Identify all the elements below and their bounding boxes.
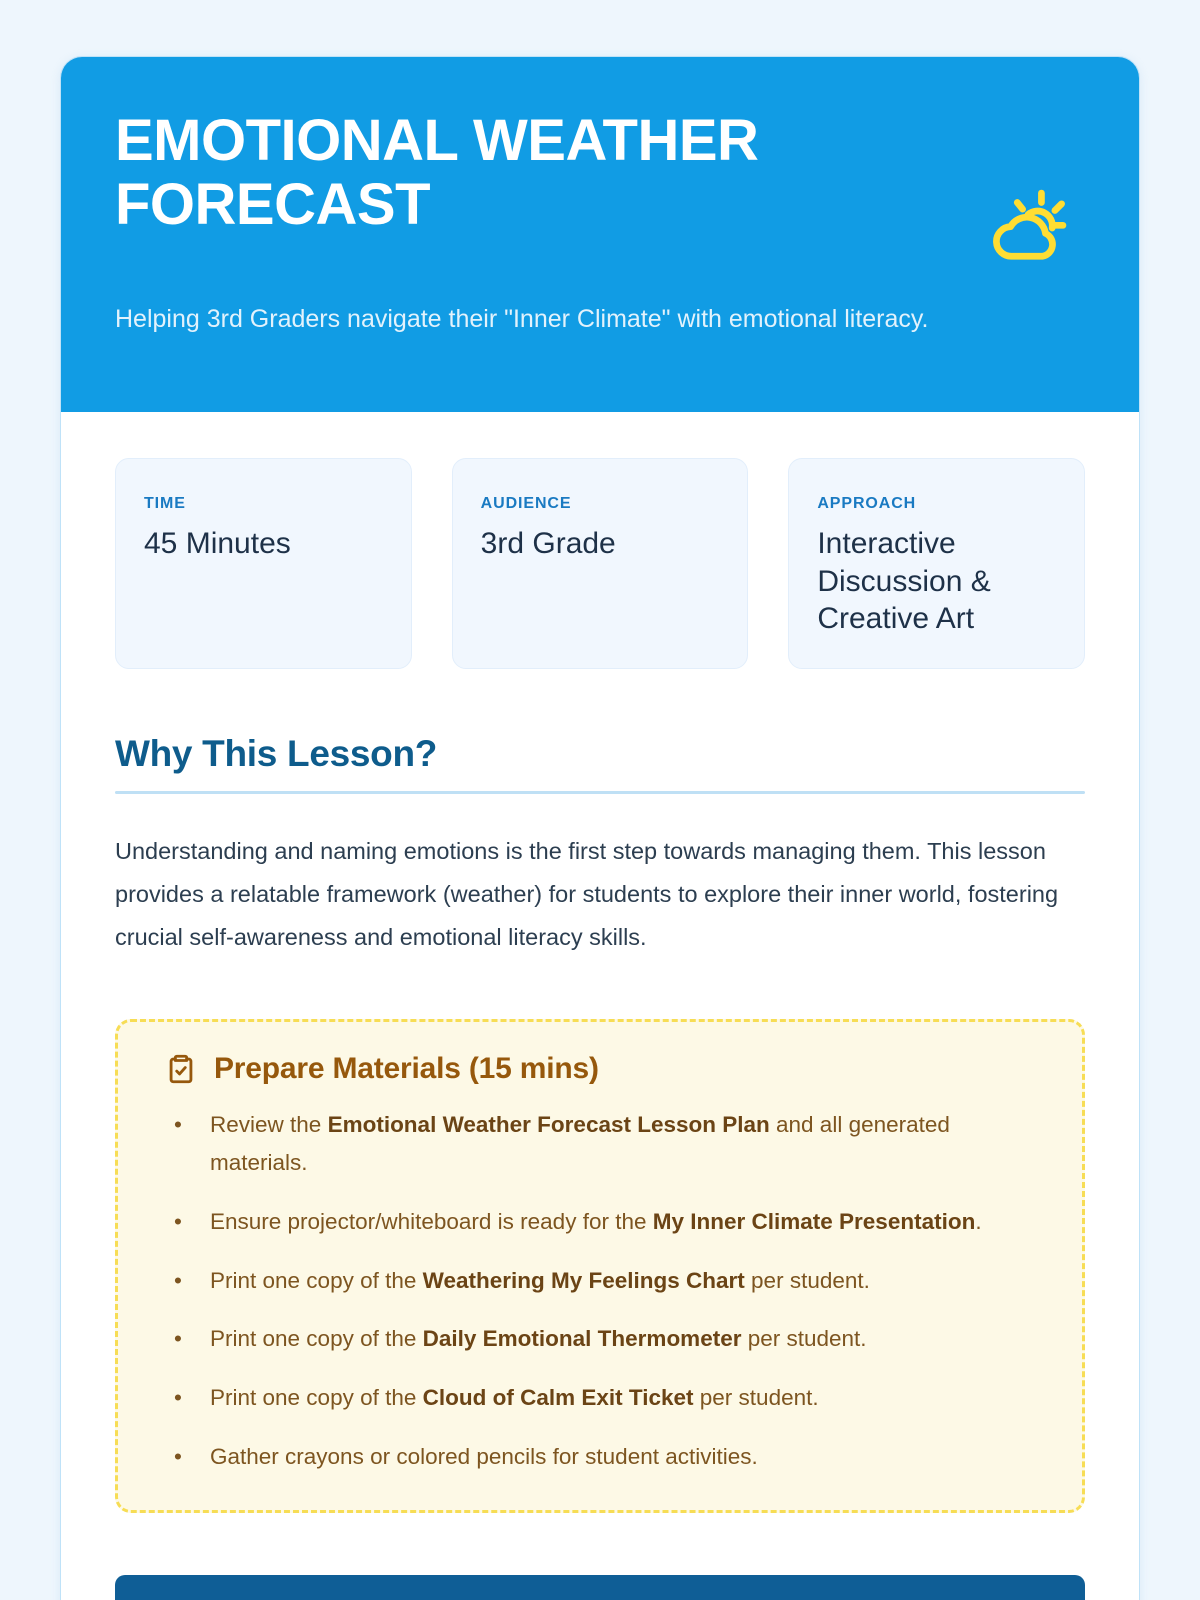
page-subtitle: Helping 3rd Graders navigate their "Inne… xyxy=(115,299,1005,340)
section-heading-why: Why This Lesson? xyxy=(115,733,1085,791)
list-item-strong: Weathering My Feelings Chart xyxy=(423,1268,745,1293)
clipboard-check-icon xyxy=(164,1052,198,1086)
meta-value-audience: 3rd Grade xyxy=(481,525,720,563)
prepare-materials-title: Prepare Materials (15 mins) xyxy=(214,1052,599,1086)
meta-card-row: TIME 45 Minutes AUDIENCE 3rd Grade APPRO… xyxy=(115,458,1085,669)
list-item-strong: Daily Emotional Thermometer xyxy=(423,1326,742,1351)
meta-label-audience: AUDIENCE xyxy=(481,495,720,513)
list-item-strong: My Inner Climate Presentation xyxy=(653,1209,976,1234)
list-item-post: per student. xyxy=(741,1326,866,1351)
lesson-plan-card: EMOTIONAL WEATHER FORECAST Helping 3rd G… xyxy=(60,56,1140,1600)
list-item: Print one copy of the Cloud of Calm Exit… xyxy=(158,1379,1042,1418)
list-item: Review the Emotional Weather Forecast Le… xyxy=(158,1106,1042,1183)
list-item-strong: Emotional Weather Forecast Lesson Plan xyxy=(328,1112,770,1137)
meta-card-time: TIME 45 Minutes xyxy=(115,458,412,669)
document-body: TIME 45 Minutes AUDIENCE 3rd Grade APPRO… xyxy=(61,412,1139,1600)
prepare-materials-callout: Prepare Materials (15 mins) Review the E… xyxy=(115,1019,1085,1514)
list-item-post: per student. xyxy=(745,1268,870,1293)
next-section-header-bar xyxy=(115,1575,1085,1600)
list-item-pre: Print one copy of the xyxy=(210,1326,423,1351)
list-item: Print one copy of the Daily Emotional Th… xyxy=(158,1320,1042,1359)
list-item-post: per student. xyxy=(694,1385,819,1410)
list-item: Ensure projector/whiteboard is ready for… xyxy=(158,1203,1042,1242)
next-section-block xyxy=(115,1575,1085,1600)
list-item-post: . xyxy=(975,1209,981,1234)
why-this-lesson-section: Why This Lesson? Understanding and namin… xyxy=(115,733,1085,959)
page-title: EMOTIONAL WEATHER FORECAST xyxy=(115,109,845,237)
meta-label-time: TIME xyxy=(144,495,383,513)
meta-card-audience: AUDIENCE 3rd Grade xyxy=(452,458,749,669)
why-paragraph: Understanding and naming emotions is the… xyxy=(115,830,1085,959)
list-item: Print one copy of the Weathering My Feel… xyxy=(158,1262,1042,1301)
meta-value-time: 45 Minutes xyxy=(144,525,383,563)
page-root: EMOTIONAL WEATHER FORECAST Helping 3rd G… xyxy=(0,0,1200,1600)
list-item: Gather crayons or colored pencils for st… xyxy=(158,1438,1042,1477)
list-item-pre: Gather crayons or colored pencils for st… xyxy=(210,1444,758,1469)
meta-value-approach: Interactive Discussion & Creative Art xyxy=(817,525,1056,638)
prepare-materials-header: Prepare Materials (15 mins) xyxy=(158,1052,1042,1086)
list-item-pre: Review the xyxy=(210,1112,328,1137)
list-item-pre: Print one copy of the xyxy=(210,1268,423,1293)
section-divider xyxy=(115,791,1085,794)
meta-label-approach: APPROACH xyxy=(817,495,1056,513)
list-item-pre: Print one copy of the xyxy=(210,1385,423,1410)
list-item-strong: Cloud of Calm Exit Ticket xyxy=(423,1385,694,1410)
cloud-sun-icon xyxy=(985,185,1071,271)
meta-card-approach: APPROACH Interactive Discussion & Creati… xyxy=(788,458,1085,669)
document-header: EMOTIONAL WEATHER FORECAST Helping 3rd G… xyxy=(61,57,1139,412)
prepare-materials-list: Review the Emotional Weather Forecast Le… xyxy=(158,1106,1042,1477)
list-item-pre: Ensure projector/whiteboard is ready for… xyxy=(210,1209,653,1234)
